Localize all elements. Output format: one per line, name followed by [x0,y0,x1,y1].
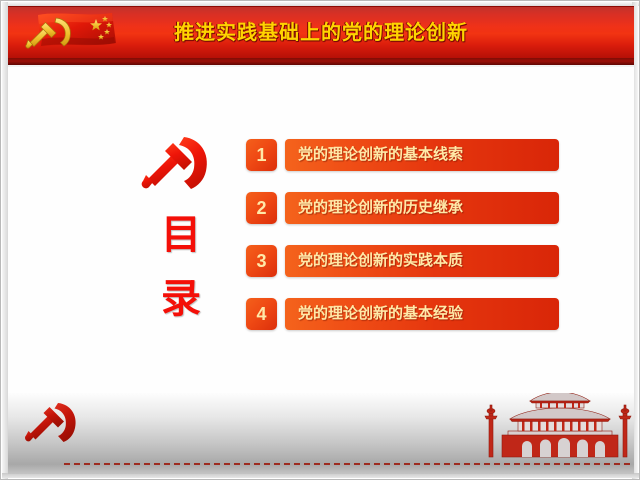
toc-label-char-1: 目 [134,209,228,261]
party-hammer-sickle-icon [134,131,228,197]
page-title: 推进实践基础上的党的理论创新 [8,7,634,58]
tiananmen-gate-icon [484,393,632,461]
toc-item-number-4: 4 [246,298,277,330]
party-hammer-sickle-icon [20,398,90,460]
toc-item-label-4: 党的理论创新的基本经验 [298,298,463,330]
toc-item-number-2: 2 [246,192,277,224]
toc-item-label-3: 党的理论创新的实践本质 [298,245,463,277]
toc-heading-group: 目 录 [134,131,228,346]
footer-divider [64,463,630,465]
toc-item-number-1: 1 [246,139,277,171]
slide-header: 推进实践基础上的党的理论创新 [8,6,634,58]
toc-item-label-2: 党的理论创新的历史继承 [298,192,463,224]
toc-item-bar-2[interactable]: 党的理论创新的历史继承 [285,192,559,224]
toc-item-list: 1 党的理论创新的基本线索 2 党的理论创新的历史继承 3 党的理论创新的实践本… [246,139,566,351]
toc-item-label-1: 党的理论创新的基本线索 [298,139,463,171]
toc-label-char-2: 录 [134,273,228,325]
toc-item-4[interactable]: 4 党的理论创新的基本经验 [246,298,566,330]
presentation-slide: 推进实践基础上的党的理论创新 [0,0,640,480]
toc-item-bar-1[interactable]: 党的理论创新的基本线索 [285,139,559,171]
toc-item-number-3: 3 [246,245,277,277]
header-underbar [8,58,634,65]
toc-item-1[interactable]: 1 党的理论创新的基本线索 [246,139,566,171]
toc-item-2[interactable]: 2 党的理论创新的历史继承 [246,192,566,224]
toc-item-bar-3[interactable]: 党的理论创新的实践本质 [285,245,559,277]
toc-item-3[interactable]: 3 党的理论创新的实践本质 [246,245,566,277]
toc-item-bar-4[interactable]: 党的理论创新的基本经验 [285,298,559,330]
slide-footer [8,393,634,474]
